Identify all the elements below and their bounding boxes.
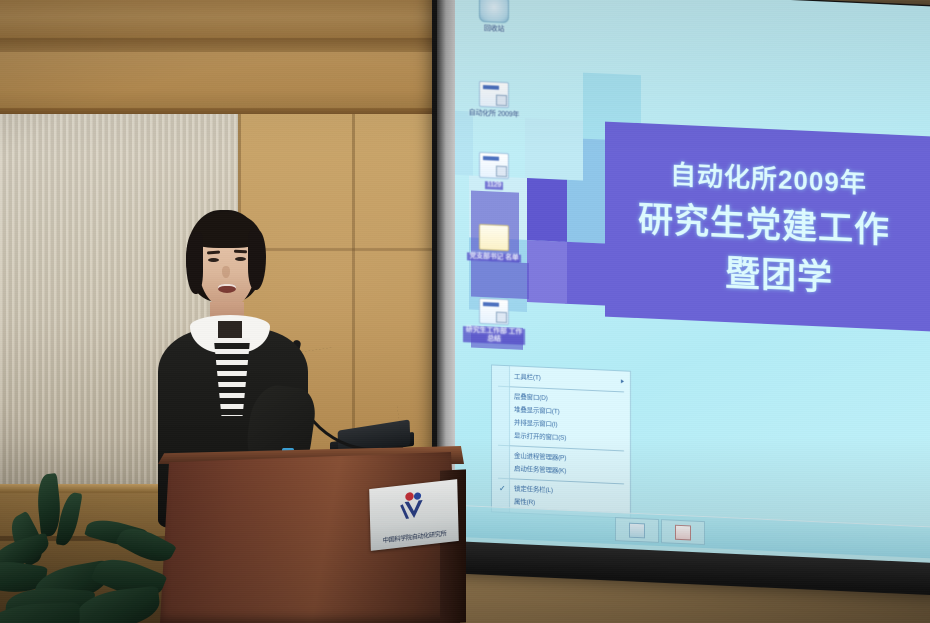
desktop-icon-document-1[interactable]: 自动化所 2009年 (463, 80, 525, 120)
document-icon (479, 81, 509, 108)
recycle-bin-icon (479, 0, 509, 23)
desktop-icon-document-4[interactable]: 研究生工作部 工作总结 (463, 297, 525, 345)
desktop-icon-label: 研究生工作部 工作总结 (463, 326, 525, 345)
checkmark-icon: ✓ (499, 482, 506, 495)
context-menu-item-label: 显示打开的窗口(S) (514, 432, 566, 441)
context-menu-item-label: 锁定任务栏(L) (514, 485, 553, 494)
presenter-hair-right (248, 230, 266, 290)
institute-plaque: 中国科学院自动化研究所 (369, 479, 459, 551)
document-icon (479, 298, 509, 325)
taskbar-button-1[interactable] (615, 517, 659, 543)
projection-screen-surface: 自动化所2009年 研究生党建工作 暨团学 回收站 自动化所 2009年 112… (455, 0, 930, 577)
slide-mosaic-square (527, 240, 567, 304)
wooden-valance-top (0, 0, 470, 38)
window-thumbnail-icon (629, 523, 645, 539)
desktop-selection-highlight (471, 260, 529, 299)
slide-title-line-3: 暨团学 (725, 245, 833, 301)
context-menu-item-label: 启动任务管理器(K) (514, 465, 566, 474)
foreground-plant (0, 470, 220, 623)
document-icon (479, 152, 509, 179)
institute-logo-icon (396, 488, 431, 522)
presenter-nose (222, 266, 230, 278)
chevron-right-icon (621, 379, 624, 383)
slide-mosaic-square (565, 242, 613, 306)
context-menu-item-label: 属性(R) (514, 498, 535, 506)
presenter-eye-right (235, 257, 246, 261)
wooden-valance-lower (0, 52, 470, 114)
desktop-icon-document-3[interactable]: 党支部书记 名单 (463, 223, 525, 263)
document-icon (479, 224, 509, 251)
context-menu-item-label: 层叠窗口(D) (514, 393, 548, 402)
context-menu-item-label: 堆叠显示窗口(T) (514, 406, 560, 415)
taskbar-button-2[interactable] (661, 519, 705, 545)
presenter-hair-left (186, 232, 203, 294)
slide-mosaic-square (527, 178, 567, 242)
presenter-mouth (218, 284, 236, 293)
slide-mosaic-square (525, 118, 583, 181)
desktop-icon-label: 1129 (485, 181, 503, 190)
desktop-icon-1129[interactable]: 1129 (463, 151, 525, 191)
context-menu-item-label: 工具栏(T) (514, 373, 541, 381)
wooden-valance-groove (0, 38, 470, 52)
desktop-icon-recycle-bin[interactable]: 回收站 (463, 0, 525, 35)
desktop-icon-label: 回收站 (484, 25, 504, 33)
context-menu-item-label: 金山进程管理器(P) (514, 452, 566, 461)
desktop-icon-label: 自动化所 2009年 (469, 109, 520, 118)
presenter-eye-left (208, 258, 219, 262)
context-menu-item-label: 并排显示窗口(I) (514, 419, 557, 428)
presentation-photo-scene: 自动化所2009年 研究生党建工作 暨团学 回收站 自动化所 2009年 112… (0, 0, 930, 623)
taskbar-context-menu[interactable]: 工具栏(T) 层叠窗口(D) 堆叠显示窗口(T) 并排显示窗口(I) 显示打开的… (491, 364, 631, 518)
window-thumbnail-icon (675, 525, 691, 541)
